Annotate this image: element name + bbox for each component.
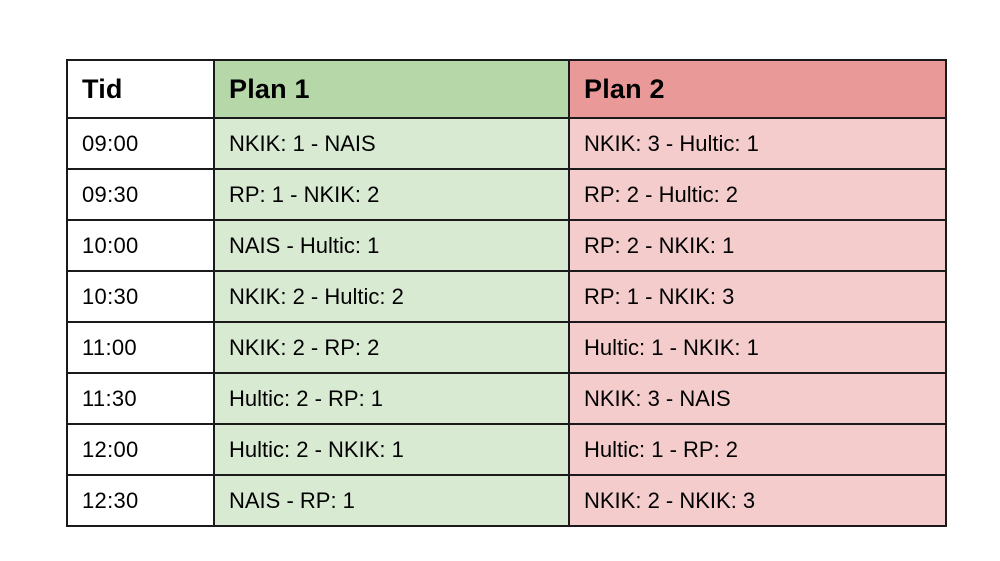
table-row: 11:00 NKIK: 2 - RP: 2 Hultic: 1 - NKIK: … [67, 322, 946, 373]
match-schedule-table: Tid Plan 1 Plan 2 09:00 NKIK: 1 - NAIS N… [66, 59, 947, 527]
cell-time: 10:30 [67, 271, 214, 322]
column-header-time: Tid [67, 60, 214, 118]
table-row: 12:00 Hultic: 2 - NKIK: 1 Hultic: 1 - RP… [67, 424, 946, 475]
cell-plan2-match: RP: 2 - NKIK: 1 [569, 220, 946, 271]
column-header-plan2: Plan 2 [569, 60, 946, 118]
cell-time: 12:30 [67, 475, 214, 526]
cell-plan2-match: RP: 2 - Hultic: 2 [569, 169, 946, 220]
table-row: 12:30 NAIS - RP: 1 NKIK: 2 - NKIK: 3 [67, 475, 946, 526]
cell-time: 11:00 [67, 322, 214, 373]
column-header-plan1: Plan 1 [214, 60, 569, 118]
cell-plan2-match: Hultic: 1 - NKIK: 1 [569, 322, 946, 373]
cell-time: 09:30 [67, 169, 214, 220]
cell-plan2-match: NKIK: 3 - NAIS [569, 373, 946, 424]
table-header: Tid Plan 1 Plan 2 [67, 60, 946, 118]
table-row: 10:30 NKIK: 2 - Hultic: 2 RP: 1 - NKIK: … [67, 271, 946, 322]
cell-plan1-match: NKIK: 2 - RP: 2 [214, 322, 569, 373]
table-row: 10:00 NAIS - Hultic: 1 RP: 2 - NKIK: 1 [67, 220, 946, 271]
table-header-row: Tid Plan 1 Plan 2 [67, 60, 946, 118]
cell-plan1-match: NAIS - Hultic: 1 [214, 220, 569, 271]
cell-plan2-match: NKIK: 2 - NKIK: 3 [569, 475, 946, 526]
cell-plan2-match: NKIK: 3 - Hultic: 1 [569, 118, 946, 169]
cell-plan1-match: Hultic: 2 - RP: 1 [214, 373, 569, 424]
cell-plan2-match: Hultic: 1 - RP: 2 [569, 424, 946, 475]
cell-plan1-match: RP: 1 - NKIK: 2 [214, 169, 569, 220]
cell-time: 09:00 [67, 118, 214, 169]
page-canvas: Tid Plan 1 Plan 2 09:00 NKIK: 1 - NAIS N… [0, 0, 1000, 561]
cell-time: 11:30 [67, 373, 214, 424]
table-row: 09:30 RP: 1 - NKIK: 2 RP: 2 - Hultic: 2 [67, 169, 946, 220]
cell-time: 10:00 [67, 220, 214, 271]
cell-plan1-match: Hultic: 2 - NKIK: 1 [214, 424, 569, 475]
cell-plan1-match: NKIK: 2 - Hultic: 2 [214, 271, 569, 322]
cell-plan1-match: NAIS - RP: 1 [214, 475, 569, 526]
table-row: 11:30 Hultic: 2 - RP: 1 NKIK: 3 - NAIS [67, 373, 946, 424]
table-row: 09:00 NKIK: 1 - NAIS NKIK: 3 - Hultic: 1 [67, 118, 946, 169]
cell-plan1-match: NKIK: 1 - NAIS [214, 118, 569, 169]
cell-plan2-match: RP: 1 - NKIK: 3 [569, 271, 946, 322]
table-body: 09:00 NKIK: 1 - NAIS NKIK: 3 - Hultic: 1… [67, 118, 946, 526]
cell-time: 12:00 [67, 424, 214, 475]
